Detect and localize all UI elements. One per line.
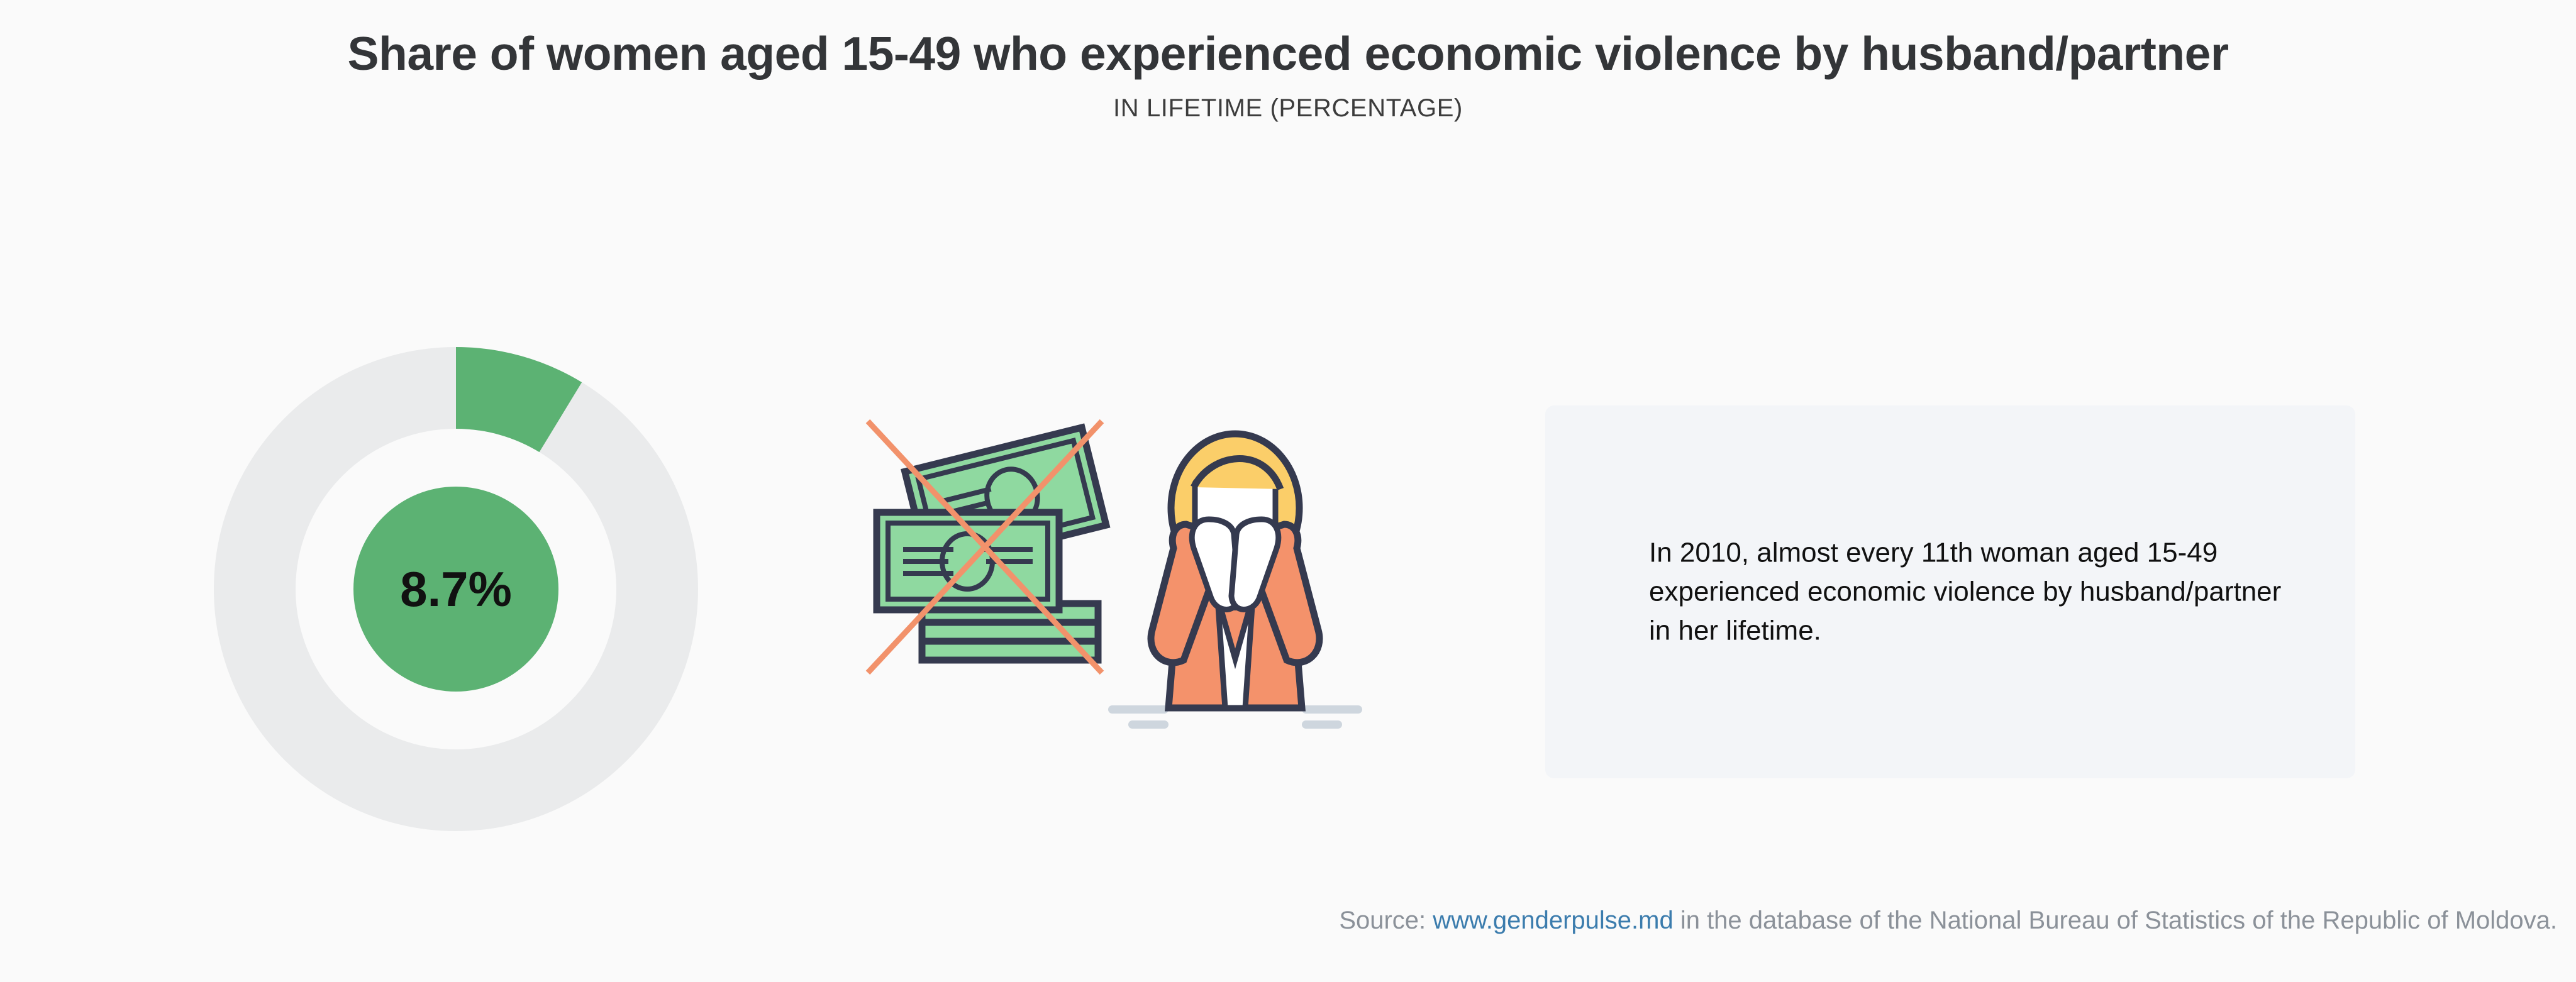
woman-covering-face-icon bbox=[1151, 434, 1319, 708]
source-footer: Source: www.genderpulse.md in the databa… bbox=[0, 907, 2576, 935]
page-title: Share of women aged 15-49 who experience… bbox=[250, 25, 2326, 83]
source-link[interactable]: www.genderpulse.md bbox=[1433, 907, 1673, 934]
illustration-svg bbox=[862, 409, 1402, 742]
source-prefix: Source: bbox=[1339, 907, 1433, 934]
page-subtitle: IN LIFETIME (PERCENTAGE) bbox=[0, 94, 2576, 123]
donut-gauge-svg: 8.7% bbox=[214, 347, 698, 831]
donut-value-label: 8.7% bbox=[400, 561, 512, 617]
callout-box: In 2010, almost every 11th woman aged 15… bbox=[1545, 405, 2355, 778]
infographic-canvas: Share of women aged 15-49 who experience… bbox=[0, 0, 2576, 982]
illustration bbox=[862, 409, 1402, 742]
callout-text: In 2010, almost every 11th woman aged 15… bbox=[1649, 533, 2284, 651]
header: Share of women aged 15-49 who experience… bbox=[0, 25, 2576, 123]
source-suffix: in the database of the National Bureau o… bbox=[1674, 907, 2557, 934]
donut-gauge: 8.7% bbox=[214, 347, 698, 831]
